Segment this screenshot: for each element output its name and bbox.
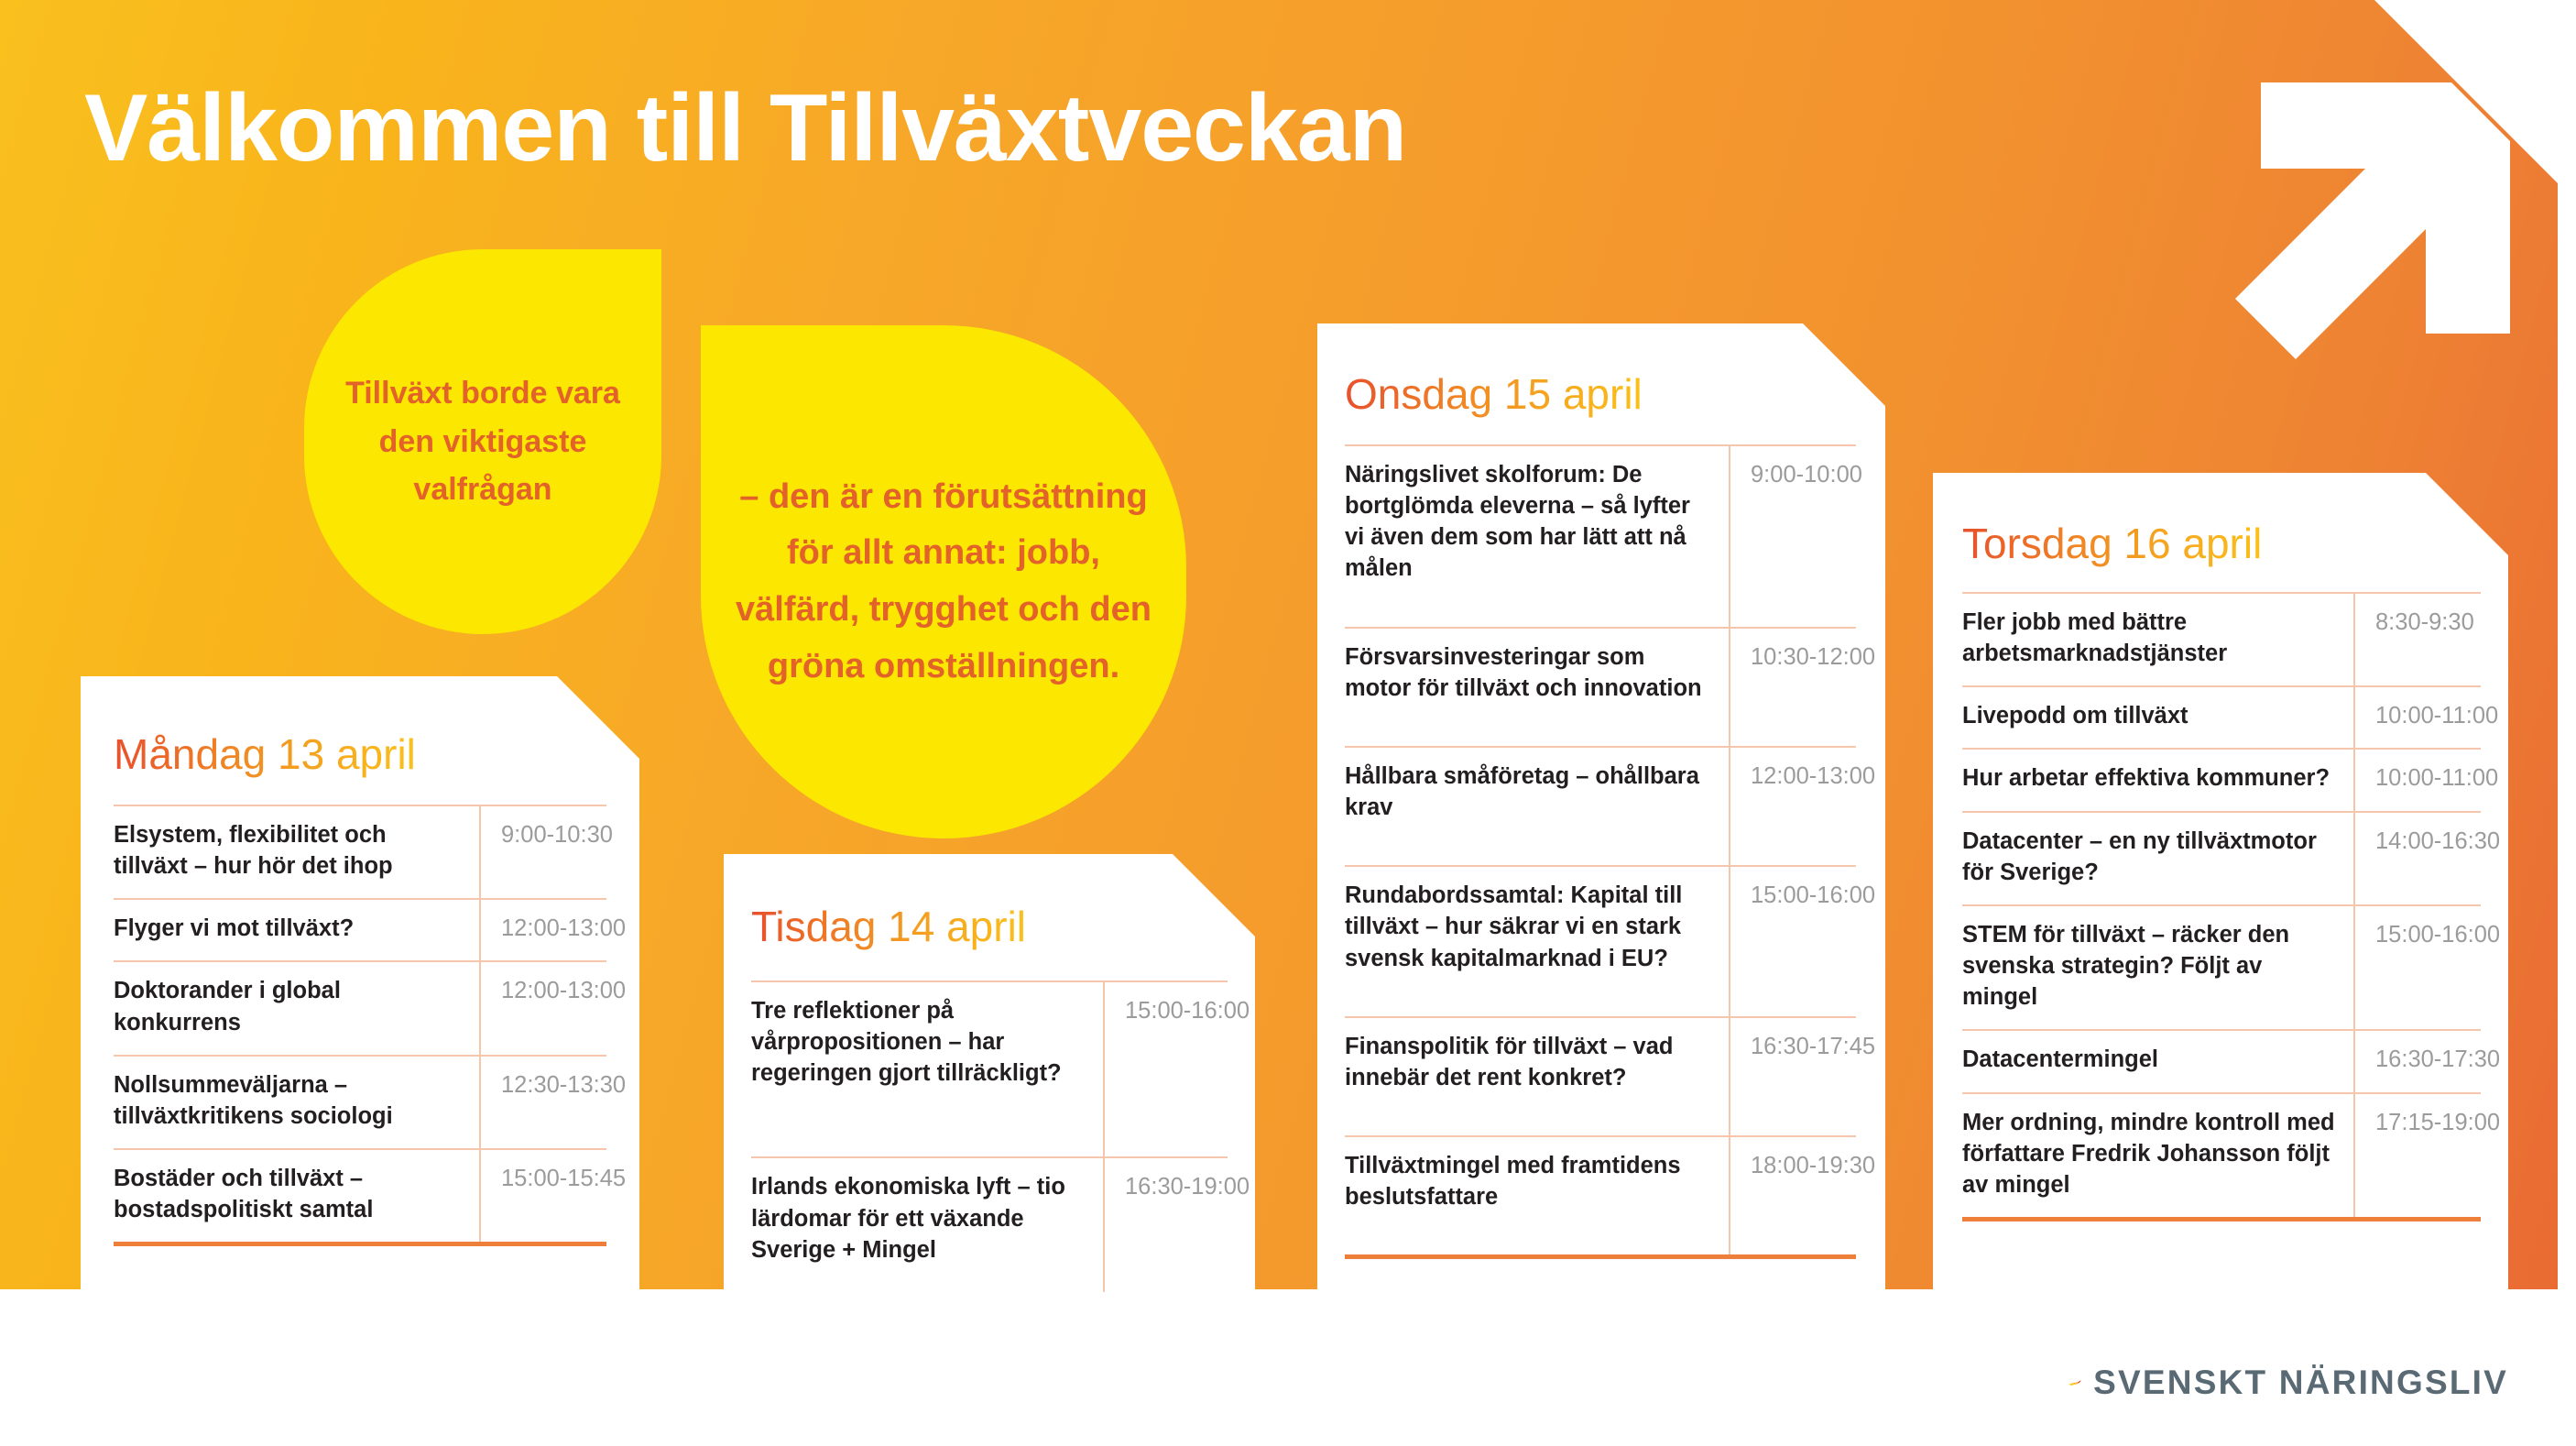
session-time: 10:00-11:00 — [2354, 686, 2481, 749]
session-topic: Hur arbetar effektiva kommuner? — [1962, 749, 2354, 811]
table-row: Fler jobb med bättre arbetsmarknadstjäns… — [1962, 593, 2481, 686]
table-row: Livepodd om tillväxt10:00-11:00 — [1962, 686, 2481, 749]
table-row: Försvarsinvesteringar som motor för till… — [1345, 628, 1856, 747]
table-row: Hållbara småföretag – ohållbara krav12:0… — [1345, 747, 1856, 866]
table-row: Elsystem, flexibilitet och tillväxt – hu… — [114, 805, 606, 899]
session-topic: Livepodd om tillväxt — [1962, 686, 2354, 749]
table-row: Tre reflektioner på vårpropositionen – h… — [751, 981, 1228, 1157]
schedule-table-monday: Elsystem, flexibilitet och tillväxt – hu… — [114, 805, 606, 1246]
session-time: 15:00-16:00 — [1730, 866, 1856, 1016]
session-topic: Elsystem, flexibilitet och tillväxt – hu… — [114, 805, 480, 899]
session-time: 15:00-15:45 — [480, 1149, 606, 1244]
table-row: Näringslivet skolforum: De bortglömda el… — [1345, 445, 1856, 628]
day-title-wednesday: Onsdag 15 april — [1345, 369, 1643, 419]
session-topic: Försvarsinvesteringar som motor för till… — [1345, 628, 1730, 747]
session-time: 12:30-13:30 — [480, 1056, 606, 1149]
session-topic: Mer ordning, mindre kontroll med författ… — [1962, 1093, 2354, 1220]
session-topic: Hållbara småföretag – ohållbara krav — [1345, 747, 1730, 866]
table-row: Nollsummeväljarna – tillväxtkritikens so… — [114, 1056, 606, 1149]
session-time: 14:00-16:30 — [2354, 812, 2481, 905]
session-topic: Finanspolitik för tillväxt – vad innebär… — [1345, 1017, 1730, 1136]
session-topic: STEM för tillväxt – räcker den svenska s… — [1962, 905, 2354, 1030]
session-time: 15:00-16:00 — [1104, 981, 1228, 1157]
day-title-monday: Måndag 13 april — [114, 729, 416, 779]
schedule-table-wednesday: Näringslivet skolforum: De bortglömda el… — [1345, 444, 1856, 1259]
day-title-tuesday: Tisdag 14 april — [751, 902, 1026, 951]
session-time: 16:30-17:45 — [1730, 1017, 1856, 1136]
table-row: Finanspolitik för tillväxt – vad innebär… — [1345, 1017, 1856, 1136]
schedule-table-thursday: Fler jobb med bättre arbetsmarknadstjäns… — [1962, 592, 2481, 1221]
session-topic: Datacentermingel — [1962, 1030, 2354, 1092]
table-row: Datacentermingel16:30-17:30 — [1962, 1030, 2481, 1092]
session-time: 10:30-12:00 — [1730, 628, 1856, 747]
table-row: Flyger vi mot tillväxt?12:00-13:00 — [114, 899, 606, 961]
day-title-thursday: Torsdag 16 april — [1962, 519, 2262, 568]
session-time: 17:15-19:00 — [2354, 1093, 2481, 1220]
table-row: Rundabordssamtal: Kapital till tillväxt … — [1345, 866, 1856, 1016]
session-time: 12:00-13:00 — [480, 899, 606, 961]
session-time: 15:00-16:00 — [2354, 905, 2481, 1030]
session-time: 12:00-13:00 — [1730, 747, 1856, 866]
session-time: 16:30-19:00 — [1104, 1157, 1228, 1335]
table-row: Hur arbetar effektiva kommuner?10:00-11:… — [1962, 749, 2481, 811]
table-row: Doktorander i global konkurrens12:00-13:… — [114, 961, 606, 1055]
table-row: Tillväxtmingel med framtidens beslutsfat… — [1345, 1136, 1856, 1257]
arrow-up-right-icon — [2217, 37, 2565, 376]
logo-wordmark: SVENSKT NÄRINGSLIV — [2093, 1364, 2508, 1402]
session-topic: Nollsummeväljarna – tillväxtkritikens so… — [114, 1056, 480, 1149]
table-row: STEM för tillväxt – räcker den svenska s… — [1962, 905, 2481, 1030]
bubble-valfragan: Tillväxt borde vara den viktigaste valfr… — [304, 249, 661, 634]
bubble-forutsattning: – den är en förutsättning för allt annat… — [701, 325, 1186, 838]
wing-swoosh-icon — [2068, 1355, 2082, 1410]
schedule-table-tuesday: Tre reflektioner på vårpropositionen – h… — [751, 980, 1228, 1338]
session-topic: Tre reflektioner på vårpropositionen – h… — [751, 981, 1104, 1157]
table-row: Mer ordning, mindre kontroll med författ… — [1962, 1093, 2481, 1220]
session-topic: Flyger vi mot tillväxt? — [114, 899, 480, 961]
bubble-forutsattning-text: – den är en förutsättning för allt annat… — [701, 469, 1186, 695]
session-time: 9:00-10:30 — [480, 805, 606, 899]
session-topic: Rundabordssamtal: Kapital till tillväxt … — [1345, 866, 1730, 1016]
session-time: 9:00-10:00 — [1730, 445, 1856, 628]
session-topic: Fler jobb med bättre arbetsmarknadstjäns… — [1962, 593, 2354, 686]
table-row: Irlands ekonomiska lyft – tio lärdomar f… — [751, 1157, 1228, 1335]
session-topic: Datacenter – en ny tillväxtmotor för Sve… — [1962, 812, 2354, 905]
session-time: 12:00-13:00 — [480, 961, 606, 1055]
session-time: 16:30-17:30 — [2354, 1030, 2481, 1092]
session-topic: Tillväxtmingel med framtidens beslutsfat… — [1345, 1136, 1730, 1257]
page-title: Välkommen till Tillväxtveckan — [84, 81, 1406, 176]
session-topic: Doktorander i global konkurrens — [114, 961, 480, 1055]
bubble-valfragan-text: Tillväxt borde vara den viktigaste valfr… — [304, 369, 661, 514]
table-row: Bostäder och tillväxt – bostadspolitiskt… — [114, 1149, 606, 1244]
table-row: Datacenter – en ny tillväxtmotor för Sve… — [1962, 812, 2481, 905]
session-time: 10:00-11:00 — [2354, 749, 2481, 811]
day-card-tuesday: Tisdag 14 april Tre reflektioner på vårp… — [724, 854, 1255, 1292]
session-topic: Irlands ekonomiska lyft – tio lärdomar f… — [751, 1157, 1104, 1335]
svenskt-naringsliv-logo: SVENSKT NÄRINGSLIV — [2068, 1343, 2508, 1422]
session-time: 8:30-9:30 — [2354, 593, 2481, 686]
session-topic: Näringslivet skolforum: De bortglömda el… — [1345, 445, 1730, 628]
day-card-thursday: Torsdag 16 april Fler jobb med bättre ar… — [1933, 473, 2508, 1292]
day-card-monday: Måndag 13 april Elsystem, flexibilitet o… — [81, 676, 639, 1292]
day-card-wednesday: Onsdag 15 april Näringslivet skolforum: … — [1317, 323, 1885, 1292]
session-topic: Bostäder och tillväxt – bostadspolitiskt… — [114, 1149, 480, 1244]
session-time: 18:00-19:30 — [1730, 1136, 1856, 1257]
